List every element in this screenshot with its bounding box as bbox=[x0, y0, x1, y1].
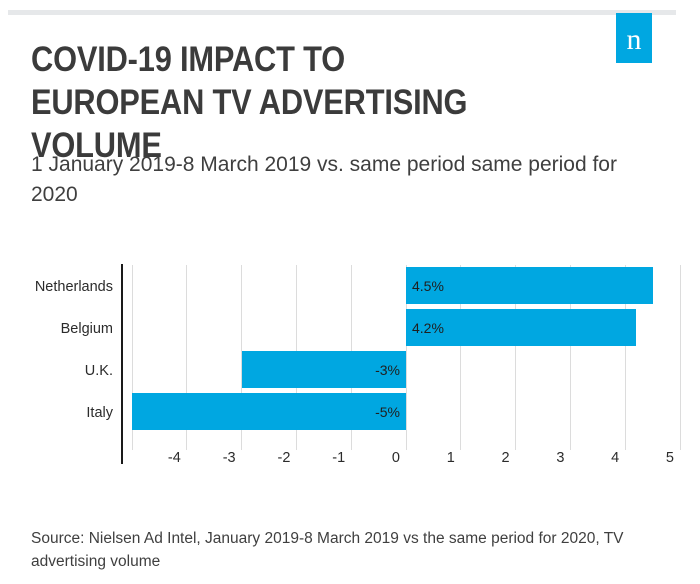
x-tick-label: -3 bbox=[176, 451, 236, 466]
x-tick-label: 3 bbox=[504, 451, 564, 466]
x-tick-label: -4 bbox=[121, 451, 181, 466]
x-tick-label: -2 bbox=[230, 451, 290, 466]
bar-value-label: 4.2% bbox=[412, 321, 444, 335]
bar-value-label: -3% bbox=[326, 363, 400, 377]
x-tick-label: 4 bbox=[559, 451, 619, 466]
x-tick-label: 5 bbox=[614, 451, 674, 466]
x-tick-label: 0 bbox=[340, 451, 400, 466]
bar-chart: 4.5%4.2%-3%-5% NetherlandsBelgiumU.K.Ita… bbox=[0, 0, 700, 584]
x-tick-label: 2 bbox=[450, 451, 510, 466]
category-label: Netherlands bbox=[0, 280, 113, 295]
x-tick-label: -1 bbox=[285, 451, 345, 466]
bar-value-label: 4.5% bbox=[412, 279, 444, 293]
category-label: Belgium bbox=[0, 322, 113, 337]
chart-zero-axis bbox=[121, 264, 123, 464]
source-note: Source: Nielsen Ad Intel, January 2019-8… bbox=[31, 527, 631, 573]
bar-value-label: -5% bbox=[326, 405, 400, 419]
x-tick-label: 1 bbox=[395, 451, 455, 466]
gridline bbox=[680, 265, 681, 450]
category-label: U.K. bbox=[0, 364, 113, 379]
category-label: Italy bbox=[0, 406, 113, 421]
